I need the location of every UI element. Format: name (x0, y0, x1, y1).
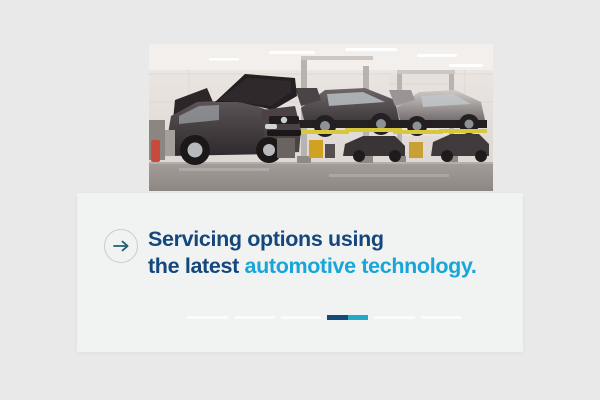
slide-stage: Servicing options using the latest autom… (0, 0, 600, 400)
progress-segment-5[interactable] (374, 316, 415, 319)
carousel-progress[interactable] (187, 315, 462, 320)
progress-active-half-cyan (348, 315, 368, 320)
slide-card: Servicing options using the latest autom… (77, 193, 523, 352)
progress-segment-3[interactable] (281, 316, 322, 319)
slide-headline: Servicing options using the latest autom… (148, 226, 477, 280)
progress-segment-2[interactable] (234, 316, 275, 319)
progress-active-half-dark (327, 315, 347, 320)
workshop-photo (149, 44, 493, 191)
headline-line-2: the latest automotive technology. (148, 253, 477, 280)
progress-segment-6[interactable] (421, 316, 462, 319)
arrow-right-icon (113, 239, 130, 253)
workshop-photo-illustration (149, 44, 493, 191)
progress-segment-1[interactable] (187, 316, 228, 319)
next-slide-button[interactable] (104, 229, 138, 263)
headline-line-2-plain: the latest (148, 254, 245, 278)
progress-segment-4-active[interactable] (327, 315, 368, 320)
headline-line-1: Servicing options using (148, 226, 477, 253)
headline-line-2-accent: automotive technology. (245, 254, 477, 278)
